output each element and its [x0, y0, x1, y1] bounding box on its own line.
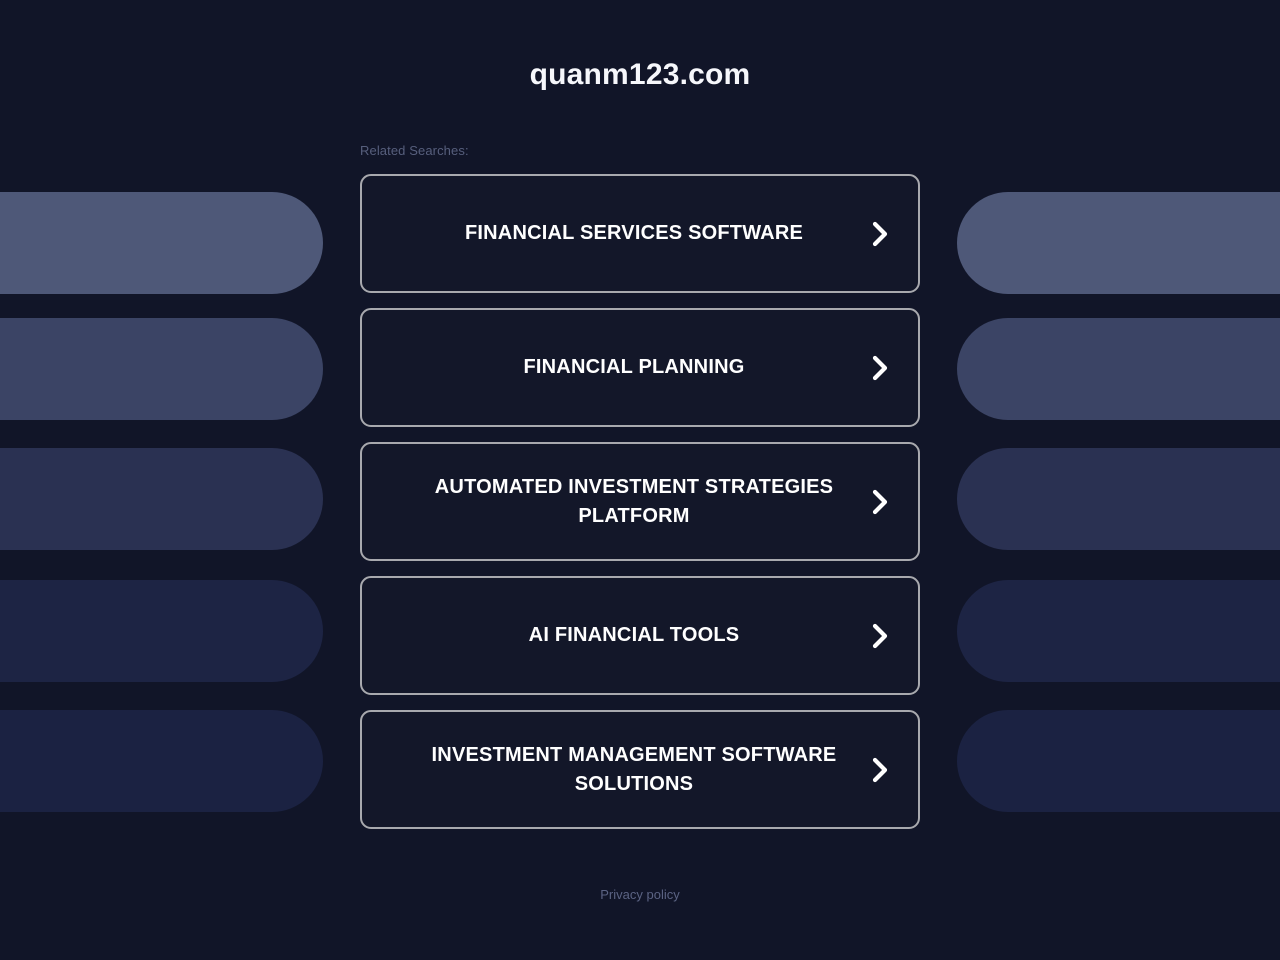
- chevron-right-icon: [871, 623, 891, 649]
- search-card-label: FINANCIAL SERVICES SOFTWARE: [465, 219, 803, 248]
- chevron-right-icon: [871, 355, 891, 381]
- search-card-label: AI FINANCIAL TOOLS: [529, 621, 740, 650]
- search-card-label: FINANCIAL PLANNING: [523, 353, 744, 382]
- search-card-financial-planning[interactable]: FINANCIAL PLANNING: [360, 308, 920, 427]
- search-card-ai-financial-tools[interactable]: AI FINANCIAL TOOLS: [360, 576, 920, 695]
- chevron-right-icon: [871, 757, 891, 783]
- chevron-right-icon: [871, 489, 891, 515]
- search-card-label: AUTOMATED INVESTMENT STRATEGIES PLATFORM: [402, 473, 866, 531]
- page-title: quanm123.com: [0, 58, 1280, 92]
- privacy-policy-link[interactable]: Privacy policy: [600, 887, 679, 902]
- search-card-automated-investment-strategies-platform[interactable]: AUTOMATED INVESTMENT STRATEGIES PLATFORM: [360, 442, 920, 561]
- related-searches-list: FINANCIAL SERVICES SOFTWARE FINANCIAL PL…: [360, 174, 920, 829]
- related-searches-label: Related Searches:: [360, 143, 469, 158]
- chevron-right-icon: [871, 221, 891, 247]
- parked-domain-page: quanm123.com Related Searches: FINANCIAL…: [0, 0, 1280, 960]
- footer: Privacy policy: [0, 886, 1280, 904]
- search-card-financial-services-software[interactable]: FINANCIAL SERVICES SOFTWARE: [360, 174, 920, 293]
- search-card-label: INVESTMENT MANAGEMENT SOFTWARE SOLUTIONS: [402, 741, 866, 799]
- search-card-investment-management-software-solutions[interactable]: INVESTMENT MANAGEMENT SOFTWARE SOLUTIONS: [360, 710, 920, 829]
